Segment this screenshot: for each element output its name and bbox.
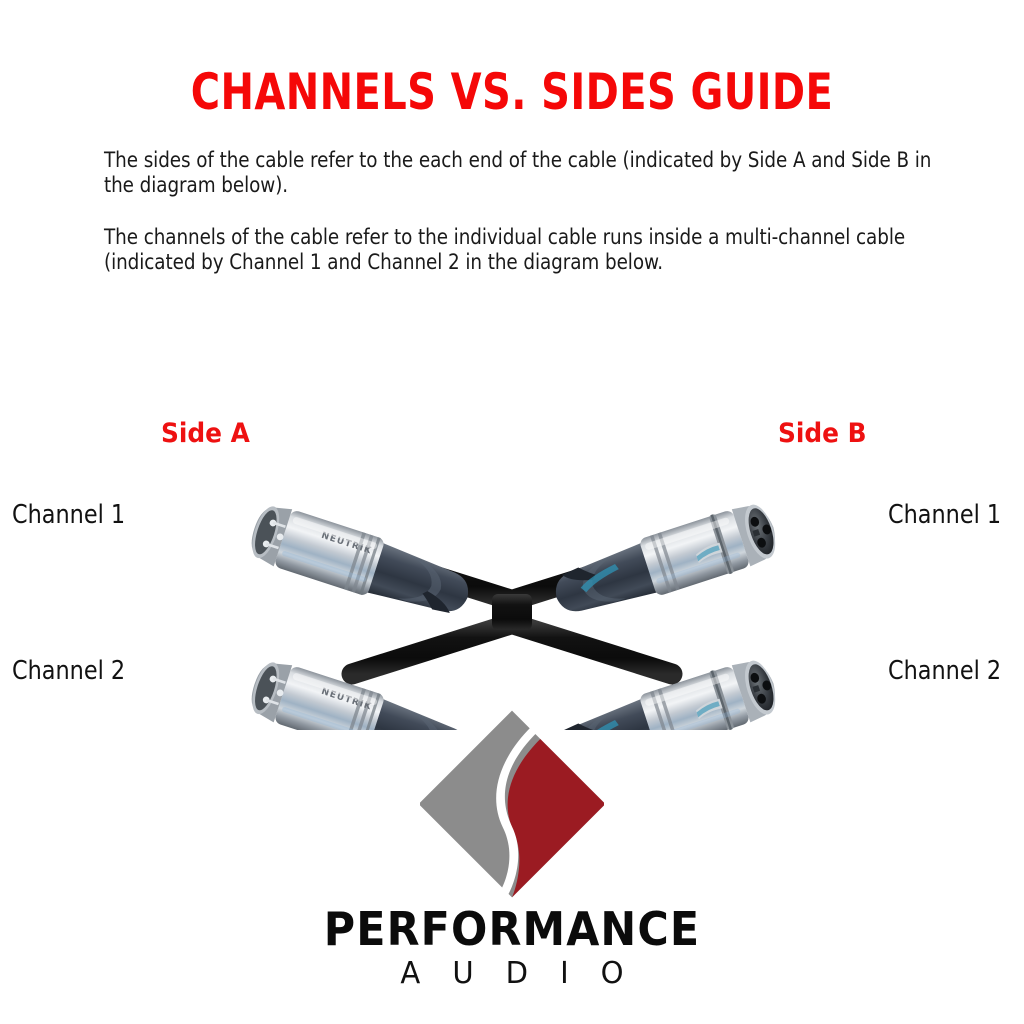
cable-trunk-multichannel — [492, 594, 532, 630]
brand-wordmark: PERFORMANCE AUDIO — [0, 904, 1024, 991]
intro-paragraph-channels: The channels of the cable refer to the i… — [104, 225, 944, 275]
page-title: CHANNELS VS. SIDES GUIDE — [102, 64, 921, 120]
infographic-page: CHANNELS VS. SIDES GUIDE The sides of th… — [0, 0, 1024, 1024]
brand-subname: AUDIO — [15, 957, 1008, 991]
cable-run-right-2 — [507, 622, 672, 674]
intro-paragraph-sides: The sides of the cable refer to the each… — [104, 148, 944, 198]
intro-text-block: The sides of the cable refer to the each… — [104, 148, 944, 275]
cable-diagram: Side A Side B Channel 1 Channel 2 Channe… — [0, 400, 1024, 730]
brand-name: PERFORMANCE — [36, 904, 988, 954]
brand-logo-block: PERFORMANCE AUDIO — [0, 700, 1024, 1000]
performance-audio-diamond-logo — [420, 708, 604, 900]
cable-run-left-2 — [352, 622, 517, 674]
xlr-male-connector-channel-1 — [245, 500, 477, 626]
cable-illustration: NEUTRIK — [0, 400, 1024, 730]
xlr-female-connector-channel-1 — [547, 498, 783, 627]
